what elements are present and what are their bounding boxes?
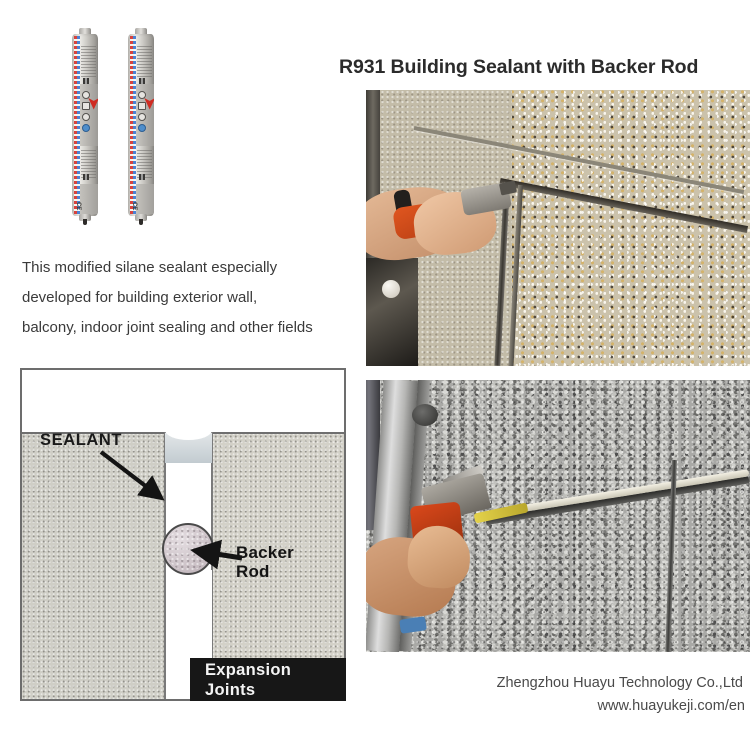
concrete-block-left bbox=[20, 433, 165, 701]
backer-rod-label-line: Backer bbox=[236, 543, 294, 562]
description-line: developed for building exterior wall, bbox=[22, 283, 342, 313]
expansion-joints-label-line: Expansion bbox=[205, 660, 291, 680]
pack-nozzle bbox=[139, 219, 143, 225]
block-edge bbox=[211, 432, 346, 434]
expansion-joints-label-line: Joints bbox=[205, 680, 291, 700]
pack-label-band bbox=[80, 184, 98, 214]
pack-body: ➤ CE bbox=[72, 34, 98, 216]
ladder-rung-hole bbox=[412, 404, 438, 426]
certification-icon bbox=[82, 124, 90, 132]
product-description: This modified silane sealant especially … bbox=[22, 253, 342, 343]
brand-swoosh-icon: ➤ bbox=[138, 97, 154, 105]
pack-nozzle bbox=[83, 219, 87, 225]
photo-applying-sealant-aggregate-wall bbox=[366, 90, 750, 366]
pack-label-band bbox=[136, 184, 154, 214]
pack-body: ➤ CE bbox=[128, 34, 154, 216]
photo-worker-on-ladder-sealing-joint bbox=[366, 380, 750, 652]
product-infographic-page: R931 Building Sealant with Backer Rod ➤ … bbox=[0, 0, 750, 750]
certification-icon bbox=[82, 113, 90, 121]
pack-text-block bbox=[137, 46, 152, 78]
ce-mark-icon: CE bbox=[75, 202, 81, 210]
description-line: This modified silane sealant especially bbox=[22, 253, 342, 283]
product-image-group: ➤ CE ➤ bbox=[64, 28, 188, 228]
certification-icon bbox=[138, 124, 146, 132]
expansion-joints-label: Expansion Joints bbox=[205, 660, 291, 700]
jamb-cap bbox=[382, 280, 400, 298]
sealant-sausage-pack: ➤ CE bbox=[72, 28, 98, 224]
page-title: R931 Building Sealant with Backer Rod bbox=[339, 56, 750, 79]
ce-mark-icon: CE bbox=[131, 202, 137, 210]
backer-rod-label-line: Rod bbox=[236, 562, 294, 581]
qr-code-icon bbox=[83, 174, 89, 180]
company-name: Zhengzhou Huayu Technology Co.,Ltd bbox=[400, 672, 745, 695]
description-line: balcony, indoor joint sealing and other … bbox=[22, 313, 342, 343]
backer-rod-circle bbox=[162, 523, 214, 575]
backer-rod-label: Backer Rod bbox=[236, 543, 294, 581]
website-url[interactable]: www.huayukeji.com/en bbox=[400, 695, 745, 718]
qr-code-icon bbox=[139, 174, 145, 180]
certification-icon bbox=[138, 113, 146, 121]
sealant-sausage-pack: ➤ CE bbox=[128, 28, 154, 224]
brand-swoosh-icon: ➤ bbox=[82, 97, 98, 105]
sealant-label: SEALANT bbox=[40, 431, 122, 450]
footer: Zhengzhou Huayu Technology Co.,Ltd www.h… bbox=[400, 672, 745, 718]
expansion-joint-cross-section bbox=[20, 368, 346, 701]
door-jamb-lower bbox=[366, 258, 418, 366]
pack-text-block bbox=[81, 46, 96, 78]
